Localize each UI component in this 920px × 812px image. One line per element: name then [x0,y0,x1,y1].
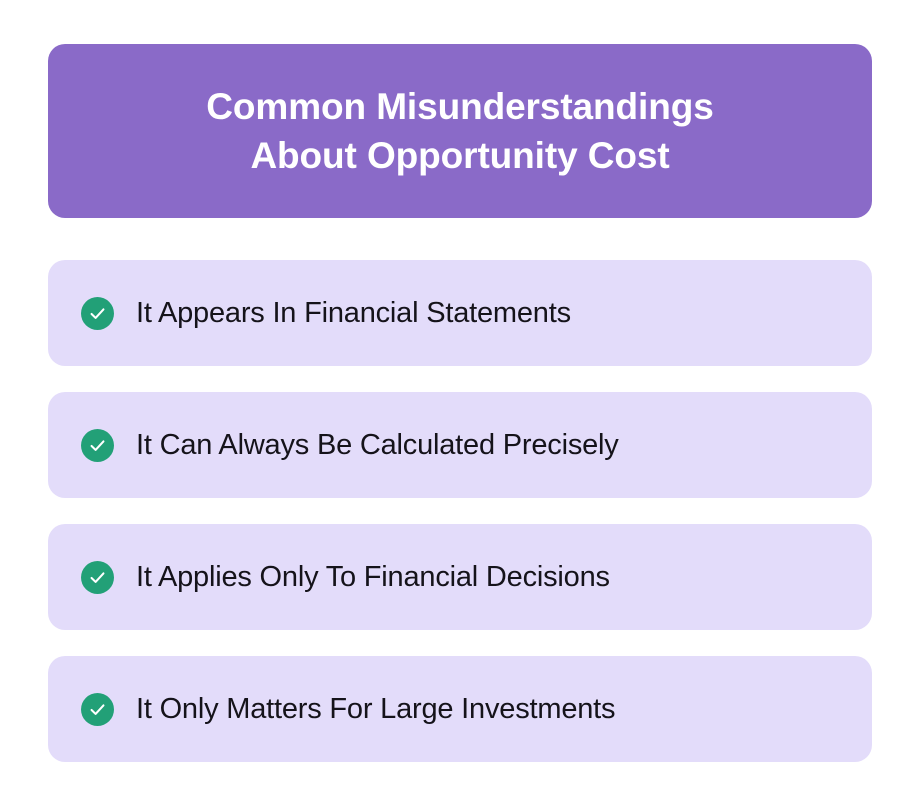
list-item-label: It Only Matters For Large Investments [136,692,615,727]
list-item[interactable]: It Can Always Be Calculated Precisely [48,392,872,498]
list-item[interactable]: It Applies Only To Financial Decisions [48,524,872,630]
check-circle-icon [81,693,114,726]
check-circle-icon [81,297,114,330]
header-banner: Common Misunderstandings About Opportuni… [48,44,872,218]
check-circle-icon [81,429,114,462]
list-item-label: It Applies Only To Financial Decisions [136,560,610,595]
infographic-root: Common Misunderstandings About Opportuni… [0,0,920,812]
list-item-label: It Appears In Financial Statements [136,296,571,331]
list-item[interactable]: It Appears In Financial Statements [48,260,872,366]
page-title: Common Misunderstandings About Opportuni… [206,82,713,180]
check-circle-icon [81,561,114,594]
list-item[interactable]: It Only Matters For Large Investments [48,656,872,762]
misconception-list: It Appears In Financial Statements It Ca… [48,260,872,762]
list-item-label: It Can Always Be Calculated Precisely [136,428,619,463]
